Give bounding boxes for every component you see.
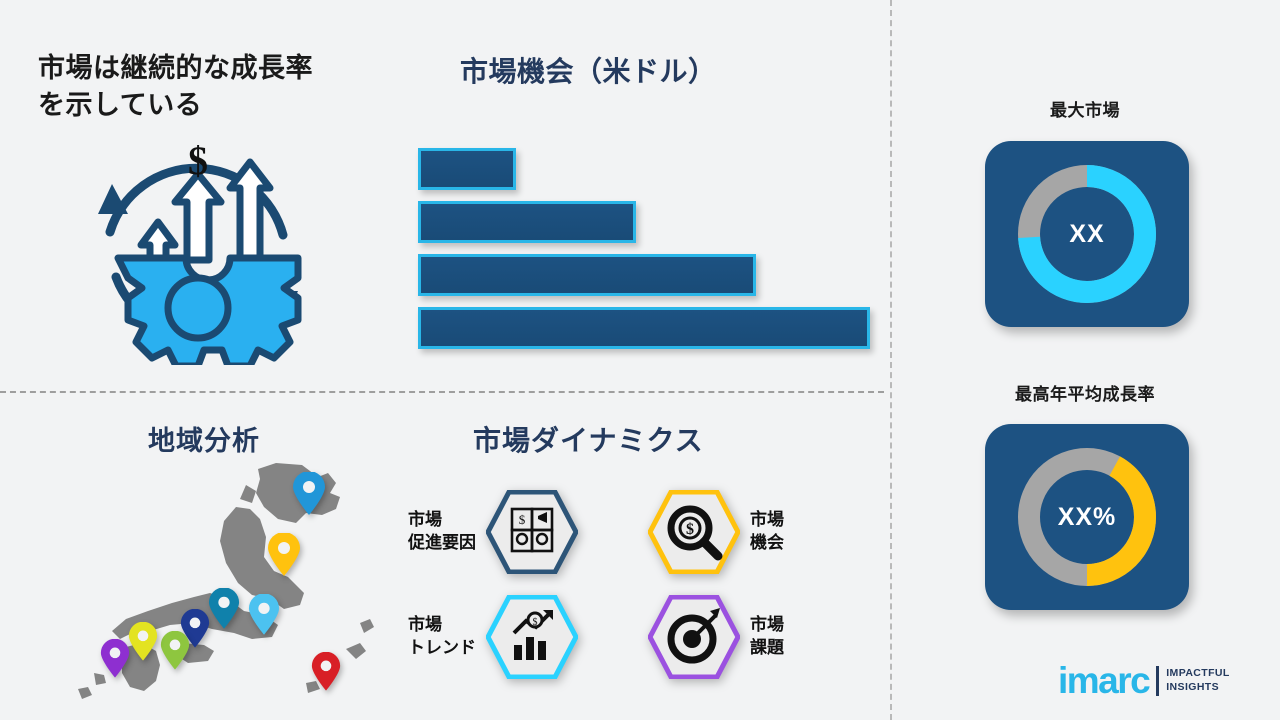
bar-4 [418, 307, 870, 349]
magnifier-dollar-icon: $ [648, 490, 740, 574]
highest-cagr-value: XX% [1007, 437, 1167, 597]
imarc-logo: imarc IMPACTFUL INSIGHTS [1058, 662, 1230, 699]
vertical-divider [890, 0, 892, 720]
bar-chart-growth-icon: $ [486, 595, 578, 679]
dynamics-item-challenges[interactable]: 市場 課題 [648, 595, 784, 679]
pin-hokkaido [292, 472, 326, 521]
pin-kyushu [100, 639, 130, 684]
logo-tagline: IMPACTFUL INSIGHTS [1166, 667, 1229, 693]
bar-3 [418, 254, 756, 296]
dynamics-title: 市場ダイナミクス [473, 419, 704, 459]
dynamics-label-trends: 市場 トレンド [408, 614, 476, 660]
growth-gear-arrows-icon: $ [78, 140, 318, 365]
growth-title: 市場は継続的な成長率 を示している [38, 50, 398, 125]
highest-cagr-card: XX% [985, 424, 1189, 610]
dynamics-item-opportunities[interactable]: $ 市場 機会 [648, 490, 784, 574]
opportunity-title: 市場機会（米ドル） [460, 50, 860, 90]
dynamics-item-drivers[interactable]: 市場 促進要因 $ [408, 490, 578, 574]
highest-cagr-donut: XX% [1007, 437, 1167, 597]
region-title: 地域分析 [148, 419, 260, 458]
largest-market-card: XX [985, 141, 1189, 327]
pin-chubu [208, 588, 240, 635]
horizontal-divider [0, 391, 884, 393]
puzzle-pieces-icon: $ [486, 490, 578, 574]
growth-title-line1: 市場は継続的な成長率 [38, 50, 398, 87]
pin-kanto [248, 594, 280, 641]
infographic-canvas: 市場は継続的な成長率 を示している $ 市場機会（米ドル） [0, 0, 1280, 720]
target-dart-icon [648, 595, 740, 679]
bar-2 [418, 201, 636, 243]
growth-title-line2: を示している [38, 87, 398, 124]
svg-text:$: $ [686, 521, 694, 538]
logo-divider [1156, 666, 1159, 696]
dynamics-label-drivers: 市場 促進要因 [408, 509, 476, 555]
pin-tohoku [267, 533, 301, 582]
svg-text:$: $ [533, 617, 538, 628]
dynamics-item-trends[interactable]: 市場 トレンド $ [408, 595, 578, 679]
highest-cagr-label: 最高年平均成長率 [940, 380, 1230, 405]
pin-chugoku [128, 622, 158, 667]
bar-1 [418, 148, 516, 190]
dynamics-label-challenges: 市場 課題 [750, 614, 784, 660]
svg-text:$: $ [188, 140, 208, 183]
svg-text:$: $ [519, 512, 526, 527]
largest-market-label: 最大市場 [940, 96, 1230, 121]
largest-market-value: XX [1007, 154, 1167, 314]
pin-okinawa [311, 652, 341, 697]
pin-kinki [160, 631, 190, 676]
opportunity-bar-chart [418, 146, 888, 356]
dynamics-label-opportunities: 市場 機会 [750, 509, 784, 555]
logo-wordmark: imarc [1058, 662, 1149, 699]
largest-market-donut: XX [1007, 154, 1167, 314]
